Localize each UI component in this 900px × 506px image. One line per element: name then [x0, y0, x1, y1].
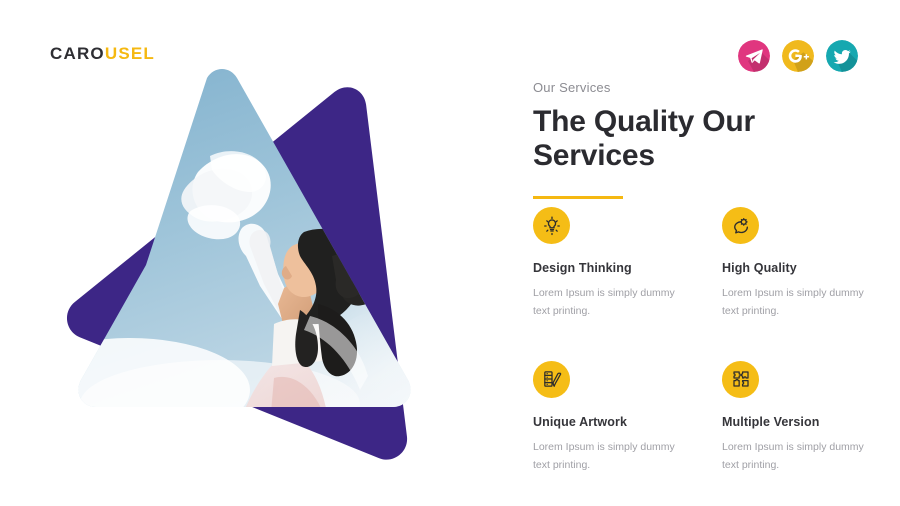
google-plus-icon[interactable] [782, 40, 814, 72]
feature-title: Multiple Version [722, 415, 878, 429]
palette-artwork-icon [533, 361, 570, 398]
slide-canvas: CAROUSEL [0, 0, 900, 506]
feature-description: Lorem Ipsum is simply dummy text printin… [533, 284, 689, 321]
title-accent-bar [533, 196, 623, 199]
telegram-icon[interactable] [738, 40, 770, 72]
feature-card-unique-artwork: Unique Artwork Lorem Ipsum is simply dum… [533, 361, 689, 475]
feature-title: High Quality [722, 261, 878, 275]
feature-title: Unique Artwork [533, 415, 689, 429]
twitter-icon[interactable] [826, 40, 858, 72]
hero-artwork [60, 60, 480, 470]
services-header: Our Services The Quality Our Services [533, 80, 873, 199]
feature-card-multiple-version: Multiple Version Lorem Ipsum is simply d… [722, 361, 878, 475]
feature-card-design-thinking: Design Thinking Lorem Ipsum is simply du… [533, 207, 689, 321]
head-gear-icon [722, 207, 759, 244]
feature-grid: Design Thinking Lorem Ipsum is simply du… [533, 207, 878, 475]
puzzle-layers-icon [722, 361, 759, 398]
page-title: The Quality Our Services [533, 105, 793, 173]
lightbulb-idea-icon [533, 207, 570, 244]
feature-description: Lorem Ipsum is simply dummy text printin… [722, 438, 878, 475]
section-eyebrow: Our Services [533, 80, 873, 95]
feature-title: Design Thinking [533, 261, 689, 275]
feature-description: Lorem Ipsum is simply dummy text printin… [533, 438, 689, 475]
feature-card-high-quality: High Quality Lorem Ipsum is simply dummy… [722, 207, 878, 321]
social-links [738, 40, 858, 72]
feature-description: Lorem Ipsum is simply dummy text printin… [722, 284, 878, 321]
